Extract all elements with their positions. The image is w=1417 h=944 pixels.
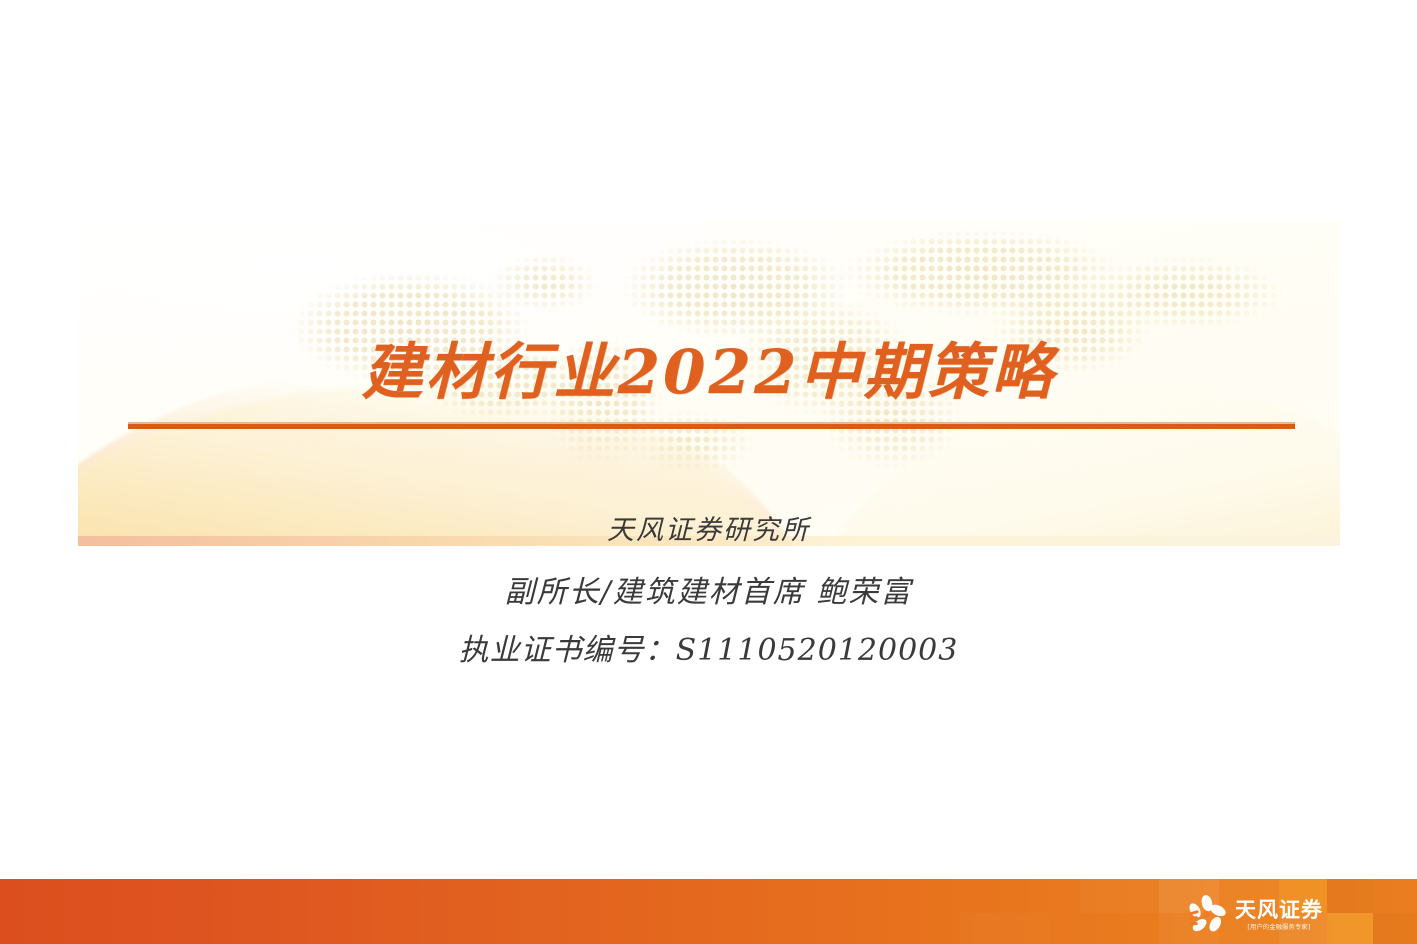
author-label: 副所长/建筑建材首席 鲍荣富 xyxy=(0,567,1417,611)
mosaic-tile xyxy=(1080,879,1159,913)
company-logo: 天风证券 [用户的金融服务专家] xyxy=(1185,893,1323,937)
logo-tagline: [用户的金融服务专家] xyxy=(1247,924,1310,930)
subtitle-block: 天风证券研究所 副所长/建筑建材首席 鲍荣富 执业证书编号：S111052012… xyxy=(0,508,1417,669)
organization-label: 天风证券研究所 xyxy=(0,508,1417,547)
mosaic-tile xyxy=(1327,913,1373,944)
logo-text-group: 天风证券 [用户的金融服务专家] xyxy=(1235,900,1323,931)
mosaic-tile xyxy=(960,913,1050,944)
logo-company-name: 天风证券 xyxy=(1235,900,1323,921)
slide-title: 建材行业2022中期策略 xyxy=(0,322,1417,411)
flower-pinwheel-icon xyxy=(1185,893,1229,937)
title-divider-rule xyxy=(128,422,1295,429)
license-number-label: 执业证书编号：S1110520120003 xyxy=(0,625,1417,669)
mosaic-tile xyxy=(1327,879,1373,913)
presentation-slide: 建材行业2022中期策略 天风证券研究所 副所长/建筑建材首席 鲍荣富 执业证书… xyxy=(0,0,1417,944)
mosaic-tile xyxy=(1373,913,1417,944)
mosaic-tile xyxy=(1373,879,1417,913)
